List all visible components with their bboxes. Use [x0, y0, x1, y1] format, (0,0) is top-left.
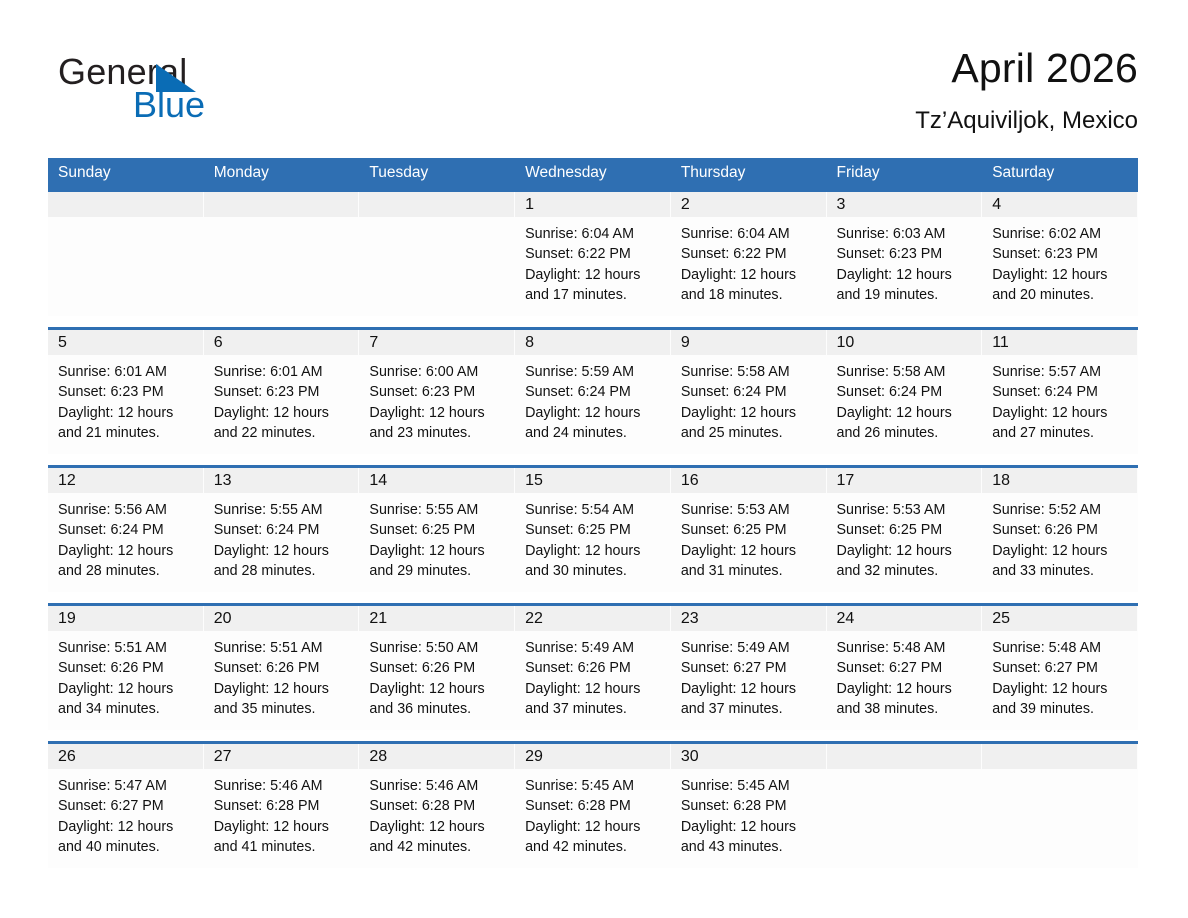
- day-number-band: [827, 744, 982, 769]
- daylight-text-line2: and 22 minutes.: [214, 423, 354, 443]
- daylight-text-line1: Daylight: 12 hours: [992, 403, 1132, 423]
- day-number-band: [48, 192, 203, 217]
- day-number: 13: [214, 472, 232, 489]
- calendar-day-cell-empty: [359, 191, 515, 317]
- calendar-day-cell[interactable]: 6Sunrise: 6:01 AMSunset: 6:23 PMDaylight…: [204, 329, 360, 455]
- calendar-day-cell[interactable]: 8Sunrise: 5:59 AMSunset: 6:24 PMDaylight…: [515, 329, 671, 455]
- day-number-band: 25: [982, 606, 1137, 631]
- sunrise-text: Sunrise: 5:53 AM: [837, 500, 977, 520]
- daylight-text-line1: Daylight: 12 hours: [58, 817, 198, 837]
- day-number: 18: [992, 472, 1010, 489]
- day-cell-body: [359, 217, 515, 224]
- calendar-day-cell[interactable]: 28Sunrise: 5:46 AMSunset: 6:28 PMDayligh…: [359, 743, 515, 869]
- day-cell-inner: 29Sunrise: 5:45 AMSunset: 6:28 PMDayligh…: [515, 744, 671, 868]
- daylight-text-line2: and 26 minutes.: [837, 423, 977, 443]
- day-number: 3: [837, 196, 846, 213]
- day-cell-inner: [48, 192, 204, 316]
- daylight-text-line1: Daylight: 12 hours: [992, 265, 1132, 285]
- calendar-day-cell[interactable]: 1Sunrise: 6:04 AMSunset: 6:22 PMDaylight…: [515, 191, 671, 317]
- day-cell-body: Sunrise: 5:51 AMSunset: 6:26 PMDaylight:…: [48, 631, 204, 719]
- day-cell-inner: 22Sunrise: 5:49 AMSunset: 6:26 PMDayligh…: [515, 606, 671, 730]
- day-number-band: 7: [359, 330, 514, 355]
- daylight-text-line1: Daylight: 12 hours: [58, 403, 198, 423]
- day-cell-inner: 7Sunrise: 6:00 AMSunset: 6:23 PMDaylight…: [359, 330, 515, 454]
- day-number-band: 12: [48, 468, 203, 493]
- sunrise-text: Sunrise: 5:48 AM: [837, 638, 977, 658]
- day-number-band: 23: [671, 606, 826, 631]
- daylight-text-line1: Daylight: 12 hours: [525, 817, 665, 837]
- weekday-header-sunday: Sunday: [48, 158, 204, 191]
- daylight-text-line1: Daylight: 12 hours: [58, 679, 198, 699]
- week-spacer: [48, 316, 1138, 329]
- sunrise-text: Sunrise: 5:51 AM: [58, 638, 198, 658]
- day-number-band: 3: [827, 192, 982, 217]
- calendar-day-cell[interactable]: 10Sunrise: 5:58 AMSunset: 6:24 PMDayligh…: [827, 329, 983, 455]
- calendar-day-cell[interactable]: 26Sunrise: 5:47 AMSunset: 6:27 PMDayligh…: [48, 743, 204, 869]
- sunrise-text: Sunrise: 5:47 AM: [58, 776, 198, 796]
- day-cell-body: Sunrise: 5:48 AMSunset: 6:27 PMDaylight:…: [827, 631, 983, 719]
- sunset-text: Sunset: 6:28 PM: [214, 796, 354, 816]
- day-cell-body: Sunrise: 5:58 AMSunset: 6:24 PMDaylight:…: [827, 355, 983, 443]
- sunset-text: Sunset: 6:27 PM: [58, 796, 198, 816]
- day-number-band: [982, 744, 1137, 769]
- daylight-text-line2: and 42 minutes.: [369, 837, 509, 857]
- title-block: April 2026 Tz’Aquiviljok, Mexico: [915, 44, 1138, 136]
- daylight-text-line1: Daylight: 12 hours: [837, 265, 977, 285]
- day-number-band: 5: [48, 330, 203, 355]
- calendar-day-cell[interactable]: 11Sunrise: 5:57 AMSunset: 6:24 PMDayligh…: [982, 329, 1138, 455]
- daylight-text-line1: Daylight: 12 hours: [525, 679, 665, 699]
- week-spacer: [48, 730, 1138, 743]
- sunset-text: Sunset: 6:24 PM: [214, 520, 354, 540]
- day-cell-inner: [204, 192, 360, 316]
- sunset-text: Sunset: 6:24 PM: [837, 382, 977, 402]
- daylight-text-line2: and 21 minutes.: [58, 423, 198, 443]
- calendar-day-cell[interactable]: 5Sunrise: 6:01 AMSunset: 6:23 PMDaylight…: [48, 329, 204, 455]
- daylight-text-line1: Daylight: 12 hours: [214, 541, 354, 561]
- day-cell-inner: 25Sunrise: 5:48 AMSunset: 6:27 PMDayligh…: [982, 606, 1138, 730]
- daylight-text-line1: Daylight: 12 hours: [369, 541, 509, 561]
- daylight-text-line1: Daylight: 12 hours: [525, 403, 665, 423]
- sunrise-text: Sunrise: 5:49 AM: [525, 638, 665, 658]
- day-number: 5: [58, 334, 67, 351]
- day-number-band: 22: [515, 606, 670, 631]
- day-cell-body: Sunrise: 5:48 AMSunset: 6:27 PMDaylight:…: [982, 631, 1138, 719]
- daylight-text-line2: and 18 minutes.: [681, 285, 821, 305]
- day-cell-body: Sunrise: 5:59 AMSunset: 6:24 PMDaylight:…: [515, 355, 671, 443]
- day-number: 26: [58, 748, 76, 765]
- sunset-text: Sunset: 6:23 PM: [58, 382, 198, 402]
- calendar-day-cell[interactable]: 9Sunrise: 5:58 AMSunset: 6:24 PMDaylight…: [671, 329, 827, 455]
- day-cell-body: Sunrise: 5:53 AMSunset: 6:25 PMDaylight:…: [671, 493, 827, 581]
- sunrise-text: Sunrise: 5:46 AM: [369, 776, 509, 796]
- day-number: 20: [214, 610, 232, 627]
- day-cell-inner: 18Sunrise: 5:52 AMSunset: 6:26 PMDayligh…: [982, 468, 1138, 592]
- daylight-text-line1: Daylight: 12 hours: [837, 403, 977, 423]
- day-number: 10: [837, 334, 855, 351]
- calendar-week-row: 5Sunrise: 6:01 AMSunset: 6:23 PMDaylight…: [48, 329, 1138, 455]
- day-cell-body: Sunrise: 6:02 AMSunset: 6:23 PMDaylight:…: [982, 217, 1138, 305]
- daylight-text-line2: and 37 minutes.: [525, 699, 665, 719]
- day-cell-inner: 26Sunrise: 5:47 AMSunset: 6:27 PMDayligh…: [48, 744, 204, 868]
- day-number: 21: [369, 610, 387, 627]
- daylight-text-line1: Daylight: 12 hours: [525, 541, 665, 561]
- day-cell-body: Sunrise: 5:46 AMSunset: 6:28 PMDaylight:…: [359, 769, 515, 857]
- day-number-band: 20: [204, 606, 359, 631]
- calendar-day-cell[interactable]: 20Sunrise: 5:51 AMSunset: 6:26 PMDayligh…: [204, 605, 360, 731]
- day-number-band: [204, 192, 359, 217]
- day-number: 16: [681, 472, 699, 489]
- page-header: General Blue April 2026 Tz’Aquiviljok, M…: [48, 44, 1138, 140]
- calendar-day-cell[interactable]: 14Sunrise: 5:55 AMSunset: 6:25 PMDayligh…: [359, 467, 515, 593]
- day-number-band: 2: [671, 192, 826, 217]
- daylight-text-line1: Daylight: 12 hours: [681, 403, 821, 423]
- day-number: 23: [681, 610, 699, 627]
- day-number: 2: [681, 196, 690, 213]
- weekday-header-saturday: Saturday: [982, 158, 1138, 191]
- daylight-text-line2: and 35 minutes.: [214, 699, 354, 719]
- sunset-text: Sunset: 6:27 PM: [837, 658, 977, 678]
- generalblue-logo[interactable]: General Blue: [58, 52, 318, 132]
- daylight-text-line1: Daylight: 12 hours: [992, 541, 1132, 561]
- weekday-header-monday: Monday: [204, 158, 360, 191]
- weekday-header-friday: Friday: [827, 158, 983, 191]
- sunset-text: Sunset: 6:25 PM: [525, 520, 665, 540]
- day-cell-body: Sunrise: 6:01 AMSunset: 6:23 PMDaylight:…: [48, 355, 204, 443]
- day-number-band: 26: [48, 744, 203, 769]
- day-cell-inner: 9Sunrise: 5:58 AMSunset: 6:24 PMDaylight…: [671, 330, 827, 454]
- day-number: 15: [525, 472, 543, 489]
- calendar-day-cell[interactable]: 24Sunrise: 5:48 AMSunset: 6:27 PMDayligh…: [827, 605, 983, 731]
- sunset-text: Sunset: 6:24 PM: [992, 382, 1132, 402]
- day-cell-body: Sunrise: 6:04 AMSunset: 6:22 PMDaylight:…: [515, 217, 671, 305]
- calendar-day-cell-empty: [827, 743, 983, 869]
- calendar-week-row: 26Sunrise: 5:47 AMSunset: 6:27 PMDayligh…: [48, 743, 1138, 869]
- day-number-band: 13: [204, 468, 359, 493]
- day-number-band: 17: [827, 468, 982, 493]
- daylight-text-line2: and 41 minutes.: [214, 837, 354, 857]
- sunset-text: Sunset: 6:25 PM: [837, 520, 977, 540]
- sunset-text: Sunset: 6:28 PM: [369, 796, 509, 816]
- day-cell-inner: 8Sunrise: 5:59 AMSunset: 6:24 PMDaylight…: [515, 330, 671, 454]
- sunset-text: Sunset: 6:26 PM: [214, 658, 354, 678]
- sunset-text: Sunset: 6:23 PM: [214, 382, 354, 402]
- day-number-band: 14: [359, 468, 514, 493]
- day-cell-inner: 5Sunrise: 6:01 AMSunset: 6:23 PMDaylight…: [48, 330, 204, 454]
- daylight-text-line2: and 32 minutes.: [837, 561, 977, 581]
- sunrise-text: Sunrise: 5:48 AM: [992, 638, 1132, 658]
- sunset-text: Sunset: 6:27 PM: [992, 658, 1132, 678]
- day-number-band: 21: [359, 606, 514, 631]
- sunrise-text: Sunrise: 5:55 AM: [214, 500, 354, 520]
- day-cell-inner: 19Sunrise: 5:51 AMSunset: 6:26 PMDayligh…: [48, 606, 204, 730]
- day-cell-body: Sunrise: 5:58 AMSunset: 6:24 PMDaylight:…: [671, 355, 827, 443]
- daylight-text-line2: and 30 minutes.: [525, 561, 665, 581]
- daylight-text-line2: and 39 minutes.: [992, 699, 1132, 719]
- calendar-day-cell[interactable]: 12Sunrise: 5:56 AMSunset: 6:24 PMDayligh…: [48, 467, 204, 593]
- page-title: April 2026: [915, 44, 1138, 92]
- calendar-day-cell[interactable]: 3Sunrise: 6:03 AMSunset: 6:23 PMDaylight…: [827, 191, 983, 317]
- day-cell-body: [982, 769, 1138, 776]
- day-number: 29: [525, 748, 543, 765]
- calendar-day-cell[interactable]: 27Sunrise: 5:46 AMSunset: 6:28 PMDayligh…: [204, 743, 360, 869]
- day-cell-body: Sunrise: 5:55 AMSunset: 6:25 PMDaylight:…: [359, 493, 515, 581]
- day-number-band: 27: [204, 744, 359, 769]
- daylight-text-line1: Daylight: 12 hours: [681, 541, 821, 561]
- sunset-text: Sunset: 6:27 PM: [681, 658, 821, 678]
- sunrise-text: Sunrise: 6:00 AM: [369, 362, 509, 382]
- day-cell-inner: 10Sunrise: 5:58 AMSunset: 6:24 PMDayligh…: [827, 330, 983, 454]
- sunrise-text: Sunrise: 5:58 AM: [837, 362, 977, 382]
- day-cell-body: Sunrise: 6:03 AMSunset: 6:23 PMDaylight:…: [827, 217, 983, 305]
- daylight-text-line1: Daylight: 12 hours: [58, 541, 198, 561]
- sunrise-text: Sunrise: 5:45 AM: [525, 776, 665, 796]
- day-number-band: 1: [515, 192, 670, 217]
- calendar-day-cell[interactable]: 21Sunrise: 5:50 AMSunset: 6:26 PMDayligh…: [359, 605, 515, 731]
- day-cell-body: [827, 769, 983, 776]
- day-cell-body: Sunrise: 5:46 AMSunset: 6:28 PMDaylight:…: [204, 769, 360, 857]
- calendar-page: General Blue April 2026 Tz’Aquiviljok, M…: [0, 0, 1188, 918]
- day-cell-inner: 28Sunrise: 5:46 AMSunset: 6:28 PMDayligh…: [359, 744, 515, 868]
- sunset-text: Sunset: 6:26 PM: [58, 658, 198, 678]
- day-cell-body: Sunrise: 5:52 AMSunset: 6:26 PMDaylight:…: [982, 493, 1138, 581]
- daylight-text-line1: Daylight: 12 hours: [837, 679, 977, 699]
- day-number-band: 16: [671, 468, 826, 493]
- sunrise-text: Sunrise: 6:04 AM: [681, 224, 821, 244]
- day-number: 1: [525, 196, 534, 213]
- day-cell-inner: 3Sunrise: 6:03 AMSunset: 6:23 PMDaylight…: [827, 192, 983, 316]
- day-number-band: 6: [204, 330, 359, 355]
- sunrise-text: Sunrise: 5:57 AM: [992, 362, 1132, 382]
- daylight-text-line2: and 37 minutes.: [681, 699, 821, 719]
- daylight-text-line1: Daylight: 12 hours: [681, 817, 821, 837]
- day-cell-inner: 4Sunrise: 6:02 AMSunset: 6:23 PMDaylight…: [982, 192, 1138, 316]
- day-number-band: 15: [515, 468, 670, 493]
- calendar-day-cell[interactable]: 18Sunrise: 5:52 AMSunset: 6:26 PMDayligh…: [982, 467, 1138, 593]
- calendar-body: 1Sunrise: 6:04 AMSunset: 6:22 PMDaylight…: [48, 191, 1138, 869]
- calendar-day-cell[interactable]: 4Sunrise: 6:02 AMSunset: 6:23 PMDaylight…: [982, 191, 1138, 317]
- day-cell-body: Sunrise: 5:53 AMSunset: 6:25 PMDaylight:…: [827, 493, 983, 581]
- day-number: 22: [525, 610, 543, 627]
- calendar-day-cell[interactable]: 19Sunrise: 5:51 AMSunset: 6:26 PMDayligh…: [48, 605, 204, 731]
- daylight-text-line2: and 19 minutes.: [837, 285, 977, 305]
- day-cell-body: Sunrise: 5:47 AMSunset: 6:27 PMDaylight:…: [48, 769, 204, 857]
- weekday-header-thursday: Thursday: [671, 158, 827, 191]
- day-number: 9: [681, 334, 690, 351]
- daylight-text-line1: Daylight: 12 hours: [681, 679, 821, 699]
- day-number: 6: [214, 334, 223, 351]
- calendar-week-row: 1Sunrise: 6:04 AMSunset: 6:22 PMDaylight…: [48, 191, 1138, 317]
- day-cell-inner: 16Sunrise: 5:53 AMSunset: 6:25 PMDayligh…: [671, 468, 827, 592]
- day-number: 14: [369, 472, 387, 489]
- daylight-text-line1: Daylight: 12 hours: [525, 265, 665, 285]
- sunset-text: Sunset: 6:28 PM: [681, 796, 821, 816]
- day-number: 17: [837, 472, 855, 489]
- week-spacer: [48, 592, 1138, 605]
- daylight-text-line2: and 27 minutes.: [992, 423, 1132, 443]
- daylight-text-line1: Daylight: 12 hours: [369, 679, 509, 699]
- day-number: 27: [214, 748, 232, 765]
- calendar-day-cell[interactable]: 30Sunrise: 5:45 AMSunset: 6:28 PMDayligh…: [671, 743, 827, 869]
- day-cell-inner: 24Sunrise: 5:48 AMSunset: 6:27 PMDayligh…: [827, 606, 983, 730]
- sunset-text: Sunset: 6:23 PM: [837, 244, 977, 264]
- day-cell-inner: 17Sunrise: 5:53 AMSunset: 6:25 PMDayligh…: [827, 468, 983, 592]
- day-number-band: 30: [671, 744, 826, 769]
- day-number-band: [359, 192, 514, 217]
- daylight-text-line2: and 33 minutes.: [992, 561, 1132, 581]
- day-cell-body: Sunrise: 6:00 AMSunset: 6:23 PMDaylight:…: [359, 355, 515, 443]
- sunrise-text: Sunrise: 5:46 AM: [214, 776, 354, 796]
- day-number-band: 8: [515, 330, 670, 355]
- daylight-text-line1: Daylight: 12 hours: [214, 403, 354, 423]
- day-number-band: 28: [359, 744, 514, 769]
- day-cell-inner: [359, 192, 515, 316]
- day-cell-inner: 13Sunrise: 5:55 AMSunset: 6:24 PMDayligh…: [204, 468, 360, 592]
- daylight-text-line2: and 25 minutes.: [681, 423, 821, 443]
- calendar-day-cell-empty: [204, 191, 360, 317]
- daylight-text-line1: Daylight: 12 hours: [992, 679, 1132, 699]
- sunset-text: Sunset: 6:26 PM: [525, 658, 665, 678]
- day-cell-body: [204, 217, 360, 224]
- day-cell-body: Sunrise: 6:01 AMSunset: 6:23 PMDaylight:…: [204, 355, 360, 443]
- day-cell-inner: 30Sunrise: 5:45 AMSunset: 6:28 PMDayligh…: [671, 744, 827, 868]
- day-cell-inner: 20Sunrise: 5:51 AMSunset: 6:26 PMDayligh…: [204, 606, 360, 730]
- daylight-text-line2: and 23 minutes.: [369, 423, 509, 443]
- day-cell-inner: 23Sunrise: 5:49 AMSunset: 6:27 PMDayligh…: [671, 606, 827, 730]
- day-cell-body: Sunrise: 5:49 AMSunset: 6:27 PMDaylight:…: [671, 631, 827, 719]
- day-cell-inner: 27Sunrise: 5:46 AMSunset: 6:28 PMDayligh…: [204, 744, 360, 868]
- week-spacer: [48, 454, 1138, 467]
- day-number-band: 29: [515, 744, 670, 769]
- sunset-text: Sunset: 6:26 PM: [992, 520, 1132, 540]
- calendar-day-cell[interactable]: 7Sunrise: 6:00 AMSunset: 6:23 PMDaylight…: [359, 329, 515, 455]
- daylight-text-line1: Daylight: 12 hours: [837, 541, 977, 561]
- day-cell-inner: 14Sunrise: 5:55 AMSunset: 6:25 PMDayligh…: [359, 468, 515, 592]
- day-number-band: 9: [671, 330, 826, 355]
- day-cell-body: [48, 217, 204, 224]
- day-cell-inner: 6Sunrise: 6:01 AMSunset: 6:23 PMDaylight…: [204, 330, 360, 454]
- day-cell-body: Sunrise: 5:55 AMSunset: 6:24 PMDaylight:…: [204, 493, 360, 581]
- sunset-text: Sunset: 6:22 PM: [681, 244, 821, 264]
- day-cell-body: Sunrise: 5:45 AMSunset: 6:28 PMDaylight:…: [515, 769, 671, 857]
- day-number: 28: [369, 748, 387, 765]
- sunrise-text: Sunrise: 6:01 AM: [214, 362, 354, 382]
- calendar-day-cell[interactable]: 15Sunrise: 5:54 AMSunset: 6:25 PMDayligh…: [515, 467, 671, 593]
- day-number: 7: [369, 334, 378, 351]
- sunrise-text: Sunrise: 6:01 AM: [58, 362, 198, 382]
- daylight-text-line2: and 29 minutes.: [369, 561, 509, 581]
- day-number-band: 4: [982, 192, 1137, 217]
- calendar-day-cell[interactable]: 23Sunrise: 5:49 AMSunset: 6:27 PMDayligh…: [671, 605, 827, 731]
- daylight-text-line2: and 28 minutes.: [214, 561, 354, 581]
- calendar-header-row: Sunday Monday Tuesday Wednesday Thursday…: [48, 158, 1138, 191]
- daylight-text-line1: Daylight: 12 hours: [214, 679, 354, 699]
- sunrise-text: Sunrise: 5:45 AM: [681, 776, 821, 796]
- sunset-text: Sunset: 6:28 PM: [525, 796, 665, 816]
- day-cell-body: Sunrise: 5:56 AMSunset: 6:24 PMDaylight:…: [48, 493, 204, 581]
- sunrise-text: Sunrise: 6:04 AM: [525, 224, 665, 244]
- week-spacer-cell: [48, 592, 1138, 605]
- daylight-text-line2: and 42 minutes.: [525, 837, 665, 857]
- day-cell-body: Sunrise: 5:49 AMSunset: 6:26 PMDaylight:…: [515, 631, 671, 719]
- weekday-header-tuesday: Tuesday: [359, 158, 515, 191]
- daylight-text-line1: Daylight: 12 hours: [214, 817, 354, 837]
- daylight-text-line2: and 34 minutes.: [58, 699, 198, 719]
- day-cell-body: Sunrise: 5:51 AMSunset: 6:26 PMDaylight:…: [204, 631, 360, 719]
- day-number: 4: [992, 196, 1001, 213]
- sunrise-text: Sunrise: 5:49 AM: [681, 638, 821, 658]
- calendar-day-cell[interactable]: 2Sunrise: 6:04 AMSunset: 6:22 PMDaylight…: [671, 191, 827, 317]
- day-cell-inner: 11Sunrise: 5:57 AMSunset: 6:24 PMDayligh…: [982, 330, 1138, 454]
- logo-text-blue: Blue: [133, 85, 205, 125]
- sunset-text: Sunset: 6:24 PM: [58, 520, 198, 540]
- calendar-day-cell-empty: [48, 191, 204, 317]
- sunset-text: Sunset: 6:25 PM: [369, 520, 509, 540]
- day-cell-inner: [982, 744, 1138, 868]
- day-cell-body: Sunrise: 5:50 AMSunset: 6:26 PMDaylight:…: [359, 631, 515, 719]
- sunset-text: Sunset: 6:26 PM: [369, 658, 509, 678]
- sunrise-text: Sunrise: 5:53 AM: [681, 500, 821, 520]
- day-number: 19: [58, 610, 76, 627]
- calendar-table: Sunday Monday Tuesday Wednesday Thursday…: [48, 158, 1138, 868]
- daylight-text-line2: and 28 minutes.: [58, 561, 198, 581]
- day-number-band: 19: [48, 606, 203, 631]
- day-cell-inner: 1Sunrise: 6:04 AMSunset: 6:22 PMDaylight…: [515, 192, 671, 316]
- sunrise-text: Sunrise: 5:51 AM: [214, 638, 354, 658]
- calendar-day-cell[interactable]: 29Sunrise: 5:45 AMSunset: 6:28 PMDayligh…: [515, 743, 671, 869]
- daylight-text-line2: and 40 minutes.: [58, 837, 198, 857]
- calendar-day-cell[interactable]: 17Sunrise: 5:53 AMSunset: 6:25 PMDayligh…: [827, 467, 983, 593]
- calendar-week-row: 19Sunrise: 5:51 AMSunset: 6:26 PMDayligh…: [48, 605, 1138, 731]
- day-cell-body: Sunrise: 5:57 AMSunset: 6:24 PMDaylight:…: [982, 355, 1138, 443]
- day-cell-inner: 21Sunrise: 5:50 AMSunset: 6:26 PMDayligh…: [359, 606, 515, 730]
- calendar-day-cell[interactable]: 25Sunrise: 5:48 AMSunset: 6:27 PMDayligh…: [982, 605, 1138, 731]
- day-cell-body: Sunrise: 5:45 AMSunset: 6:28 PMDaylight:…: [671, 769, 827, 857]
- day-number-band: 10: [827, 330, 982, 355]
- page-subtitle-location: Tz’Aquiviljok, Mexico: [915, 106, 1138, 136]
- sunrise-text: Sunrise: 5:52 AM: [992, 500, 1132, 520]
- sunset-text: Sunset: 6:24 PM: [681, 382, 821, 402]
- sunset-text: Sunset: 6:22 PM: [525, 244, 665, 264]
- daylight-text-line2: and 38 minutes.: [837, 699, 977, 719]
- daylight-text-line2: and 43 minutes.: [681, 837, 821, 857]
- calendar-day-cell[interactable]: 13Sunrise: 5:55 AMSunset: 6:24 PMDayligh…: [204, 467, 360, 593]
- daylight-text-line1: Daylight: 12 hours: [369, 817, 509, 837]
- day-cell-inner: 12Sunrise: 5:56 AMSunset: 6:24 PMDayligh…: [48, 468, 204, 592]
- day-cell-body: Sunrise: 5:54 AMSunset: 6:25 PMDaylight:…: [515, 493, 671, 581]
- sunset-text: Sunset: 6:24 PM: [525, 382, 665, 402]
- sunrise-text: Sunrise: 5:58 AM: [681, 362, 821, 382]
- day-number-band: 11: [982, 330, 1137, 355]
- daylight-text-line2: and 17 minutes.: [525, 285, 665, 305]
- daylight-text-line2: and 31 minutes.: [681, 561, 821, 581]
- daylight-text-line2: and 20 minutes.: [992, 285, 1132, 305]
- calendar-day-cell[interactable]: 16Sunrise: 5:53 AMSunset: 6:25 PMDayligh…: [671, 467, 827, 593]
- sunrise-text: Sunrise: 5:50 AM: [369, 638, 509, 658]
- week-spacer-cell: [48, 730, 1138, 743]
- daylight-text-line1: Daylight: 12 hours: [369, 403, 509, 423]
- daylight-text-line2: and 24 minutes.: [525, 423, 665, 443]
- sunset-text: Sunset: 6:23 PM: [369, 382, 509, 402]
- day-number: 8: [525, 334, 534, 351]
- calendar-week-row: 12Sunrise: 5:56 AMSunset: 6:24 PMDayligh…: [48, 467, 1138, 593]
- sunrise-text: Sunrise: 6:02 AM: [992, 224, 1132, 244]
- sunrise-text: Sunrise: 5:56 AM: [58, 500, 198, 520]
- day-number: 30: [681, 748, 699, 765]
- sunrise-text: Sunrise: 5:55 AM: [369, 500, 509, 520]
- calendar-day-cell[interactable]: 22Sunrise: 5:49 AMSunset: 6:26 PMDayligh…: [515, 605, 671, 731]
- week-spacer-cell: [48, 316, 1138, 329]
